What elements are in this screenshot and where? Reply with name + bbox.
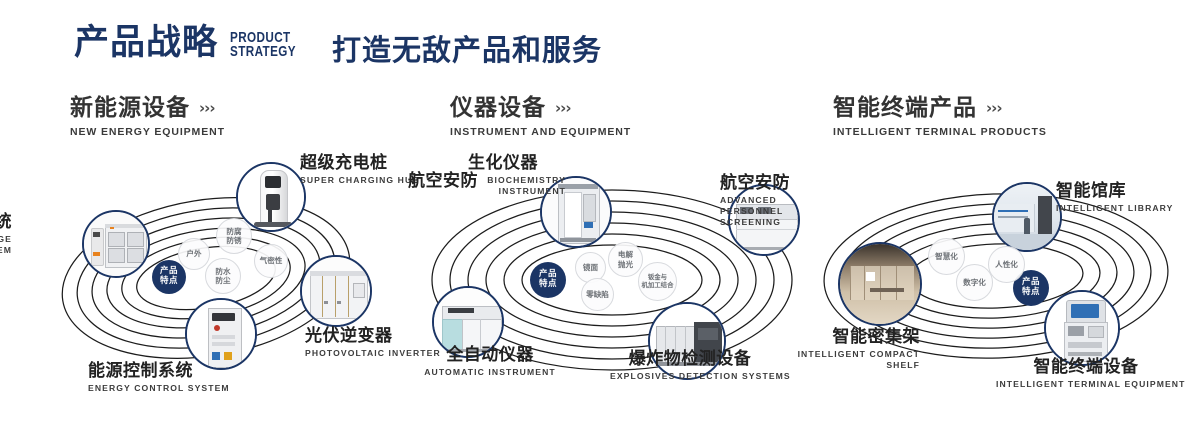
section-heading-new-energy: 新能源设备 ››› NEW ENERGY EQUIPMENT <box>70 96 225 138</box>
node-label-en: EXPLOSIVES DETECTION SYSTEMS <box>610 371 770 382</box>
pv-inverter-icon <box>302 257 370 325</box>
node-photo-compact-shelf[interactable] <box>838 242 922 326</box>
node-label-energy-storage: 储能系统 ENERGY STORAGE SYSTEM <box>0 213 12 256</box>
page-title-en-line2: STRATEGY <box>230 45 296 59</box>
feature-bubble-2: 人性化 <box>988 246 1025 283</box>
badge-line-2: 特点 <box>1022 288 1040 298</box>
cluster-instrument: 产品 特点 镜面 电解 抛光 零缺陷 钣金与 机加工结合 航空安防 生化仪器 B… <box>400 150 820 400</box>
node-label-cn: 全自动仪器 <box>420 346 560 365</box>
product-strategy-infographic: 产品战略 PRODUCT STRATEGY 打造无敌产品和服务 新能源设备 ››… <box>0 0 1200 422</box>
bubble-text: 防尘 <box>215 276 230 285</box>
compact-shelf-icon <box>840 244 920 324</box>
feature-bubble-3: 钣金与 机加工结合 <box>638 262 677 301</box>
badge-line-2: 特点 <box>160 277 178 287</box>
feature-bubble-1: 数字化 <box>956 264 993 301</box>
terminal-kiosk-icon <box>1046 292 1118 364</box>
node-label-en: ENERGY STORAGE SYSTEM <box>0 234 12 256</box>
node-label-cn: 智能终端设备 <box>996 358 1176 377</box>
node-label-en: BIOCHEMISTRY INSTRUMENT <box>468 175 566 197</box>
node-label-compact-shelf: 智能密集架 INTELLIGENT COMPACT SHELF <box>780 328 920 371</box>
bubble-text: 镜面 <box>583 263 598 272</box>
section-title-cn-1: 仪器设备 ››› <box>450 96 631 121</box>
badge-line-2: 特点 <box>539 280 557 290</box>
node-photo-control-cabinet[interactable] <box>185 298 257 370</box>
node-label-cn: 智能馆库 <box>1056 182 1174 201</box>
feature-bubble-2: 防水 防尘 <box>205 258 241 294</box>
section-heading-instrument: 仪器设备 ››› INSTRUMENT AND EQUIPMENT <box>450 96 631 138</box>
node-label-en: AUTOMATIC INSTRUMENT <box>420 367 560 378</box>
bubble-text: 气密性 <box>260 256 283 265</box>
library-room-icon <box>994 184 1060 250</box>
node-label-cn: 爆炸物检测设备 <box>610 350 770 369</box>
node-photo-pv-inverter[interactable] <box>300 255 372 327</box>
bubble-text: 智慧化 <box>935 252 958 261</box>
node-label-cn: 生化仪器 <box>468 154 566 173</box>
feature-bubble-1: 电解 抛光 <box>608 242 643 277</box>
feature-bubble-1: 防腐 防锈 <box>216 218 252 254</box>
bubble-text: 户外 <box>186 249 201 258</box>
charging-pile-icon <box>238 164 304 230</box>
section-title-cn-0: 新能源设备 ››› <box>70 96 225 121</box>
bubble-text: 数字化 <box>963 278 986 287</box>
chevron-right-icon-0: ››› <box>199 100 215 117</box>
node-label-terminal-equipment: 智能终端设备 INTELLIGENT TERMINAL EQUIPMENT <box>996 358 1176 390</box>
node-label-automatic-instrument: 全自动仪器 AUTOMATIC INSTRUMENT <box>420 346 560 378</box>
bubble-text: 人性化 <box>995 260 1018 269</box>
section-title-cn-2: 智能终端产品 ››› <box>833 96 1047 121</box>
bubble-text: 机加工结合 <box>642 282 674 290</box>
node-label-cn: 储能系统 <box>0 213 12 232</box>
feature-bubble-2: 零缺陷 <box>581 278 614 311</box>
section-title-en-2: INTELLIGENT TERMINAL PRODUCTS <box>833 126 1047 138</box>
section-heading-intelligent: 智能终端产品 ››› INTELLIGENT TERMINAL PRODUCTS <box>833 96 1047 138</box>
node-label-en: INTELLIGENT TERMINAL EQUIPMENT <box>996 379 1176 390</box>
bubble-text: 防锈 <box>226 236 241 245</box>
product-features-badge-instrument: 产品 特点 <box>530 262 566 298</box>
cluster-intelligent-terminal: 产品 特点 智慧化 数字化 人性化 智能馆库 INTELLIGENT LIBRA… <box>800 150 1200 400</box>
section-title-en-0: NEW ENERGY EQUIPMENT <box>70 126 225 138</box>
node-photo-charging-pile[interactable] <box>236 162 306 232</box>
page-title-en: PRODUCT STRATEGY <box>230 31 296 60</box>
section-title-text-0: 新能源设备 <box>70 96 190 121</box>
bubble-text: 防腐 <box>226 227 241 236</box>
node-label-en: ENERGY CONTROL SYSTEM <box>88 383 230 394</box>
node-label-biochemistry: 生化仪器 BIOCHEMISTRY INSTRUMENT <box>468 154 566 197</box>
section-title-text-1: 仪器设备 <box>450 96 546 121</box>
page-header: 产品战略 PRODUCT STRATEGY <box>74 26 315 61</box>
node-label-explosives-detection: 爆炸物检测设备 EXPLOSIVES DETECTION SYSTEMS <box>610 350 770 382</box>
feature-bubble-0: 户外 <box>178 238 210 270</box>
cluster-new-energy: 产品 特点 户外 防腐 防锈 防水 防尘 气密性 储能系统 ENERGY STO… <box>0 150 420 400</box>
node-label-en: INTELLIGENT LIBRARY <box>1056 203 1174 214</box>
node-label-cn: 智能密集架 <box>780 328 920 347</box>
control-cabinet-icon <box>187 300 255 368</box>
node-label-cn: 能源控制系统 <box>88 362 230 381</box>
bubble-text: 防水 <box>215 267 230 276</box>
section-title-text-2: 智能终端产品 <box>833 96 977 121</box>
node-label-control-system: 能源控制系统 ENERGY CONTROL SYSTEM <box>88 362 230 394</box>
node-label-intelligent-library: 智能馆库 INTELLIGENT LIBRARY <box>1056 182 1174 214</box>
page-tagline: 打造无敌产品和服务 <box>332 36 602 65</box>
chevron-right-icon-2: ››› <box>986 100 1002 117</box>
feature-bubble-3: 气密性 <box>254 244 288 278</box>
node-photo-energy-storage-cabinet[interactable] <box>82 210 150 278</box>
bubble-text: 电解 <box>618 250 633 259</box>
product-features-badge-new-energy: 产品 特点 <box>152 260 186 294</box>
node-label-en: INTELLIGENT COMPACT SHELF <box>780 349 920 371</box>
bubble-text: 抛光 <box>618 260 633 269</box>
section-title-en-1: INSTRUMENT AND EQUIPMENT <box>450 126 631 138</box>
chevron-right-icon-1: ››› <box>555 100 571 117</box>
node-photo-library-room[interactable] <box>992 182 1062 252</box>
energy-storage-cabinet-icon <box>84 212 148 276</box>
bubble-text: 零缺陷 <box>586 290 609 299</box>
page-title: 产品战略 <box>74 26 218 61</box>
node-photo-terminal-kiosk[interactable] <box>1044 290 1120 366</box>
feature-bubble-0: 智慧化 <box>928 238 965 275</box>
